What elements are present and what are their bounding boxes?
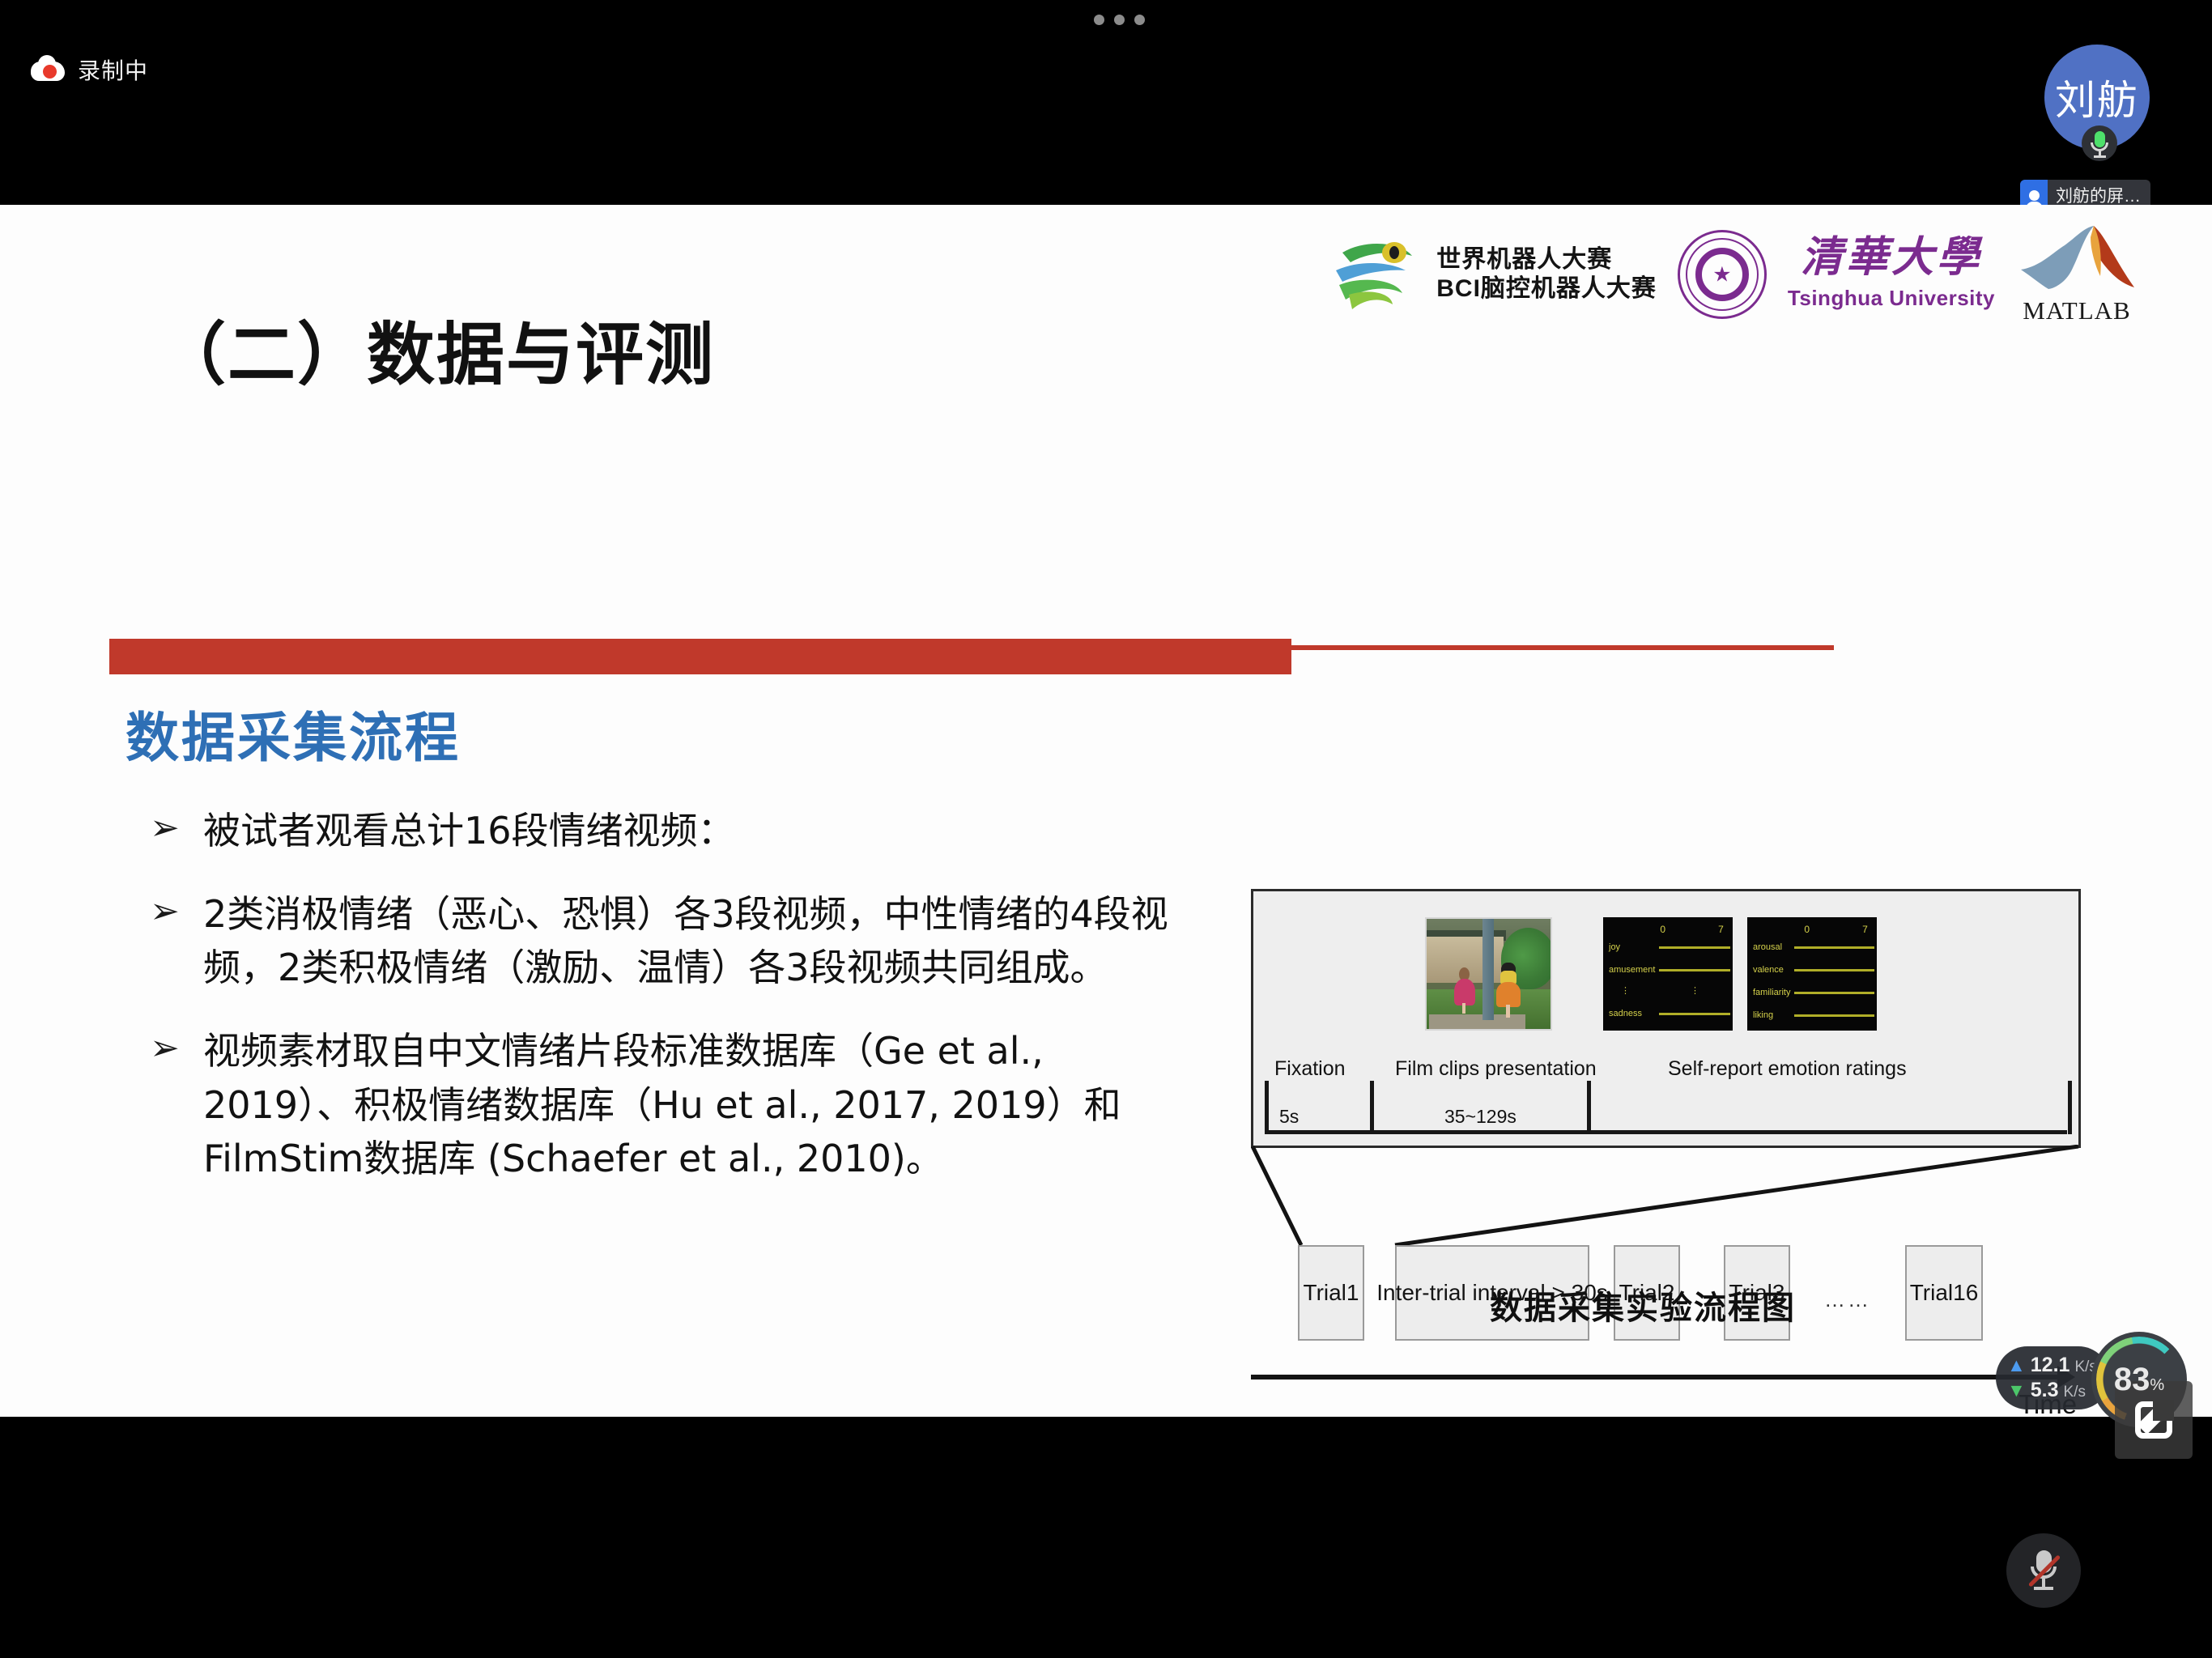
time-axis [1251, 1375, 2061, 1380]
list-item: ➢ 被试者观看总计16段情绪视频： [150, 804, 1178, 858]
tsinghua-en-label: Tsinghua University [1788, 286, 1995, 311]
phase-duration: 5s [1279, 1106, 1299, 1128]
list-item: ➢ 视频素材取自中文情绪片段标准数据库（Ge et al., 2019）、积极情… [150, 1024, 1178, 1186]
rating-label: familiarity [1753, 988, 1790, 997]
shared-slide: 世界机器人大赛 BCI脑控机器人大赛 ★ 清華大學 Tsinghua Unive… [0, 205, 2212, 1417]
wrc-line-2: BCI脑控机器人大赛 [1436, 274, 1657, 303]
bullet-arrow-icon: ➢ [150, 1024, 203, 1186]
download-speed-row: ▼ 5.3 K/s [2007, 1379, 2097, 1402]
bullet-arrow-icon: ➢ [150, 887, 203, 995]
logo-row: 世界机器人大赛 BCI脑控机器人大赛 ★ 清華大學 Tsinghua Unive… [1328, 223, 2138, 325]
rating-label: joy [1609, 942, 1620, 952]
matlab-logo: MATLAB [2016, 223, 2138, 325]
phase-label: Film clips presentation [1395, 1057, 1597, 1081]
scale-max: 7 [1718, 924, 1724, 935]
rating-label: valence [1753, 965, 1784, 975]
pencil-icon [2135, 1401, 2172, 1439]
avatar[interactable]: 刘舫 [2044, 45, 2150, 150]
more-options-icon[interactable] [1094, 15, 1145, 25]
matlab-label: MATLAB [2016, 296, 2138, 325]
mic-muted-icon [2027, 1550, 2060, 1591]
scale-min: 0 [1804, 924, 1810, 935]
recording-indicator[interactable]: 录制中 [31, 53, 148, 86]
download-speed-unit: K/s [2064, 1384, 2086, 1401]
phase-label: Fixation [1274, 1057, 1346, 1081]
ellipsis-right: ⋮ [1691, 985, 1699, 996]
bullet-text: 被试者观看总计16段情绪视频： [203, 804, 735, 858]
wrc-logo: 世界机器人大赛 BCI脑控机器人大赛 [1328, 235, 1657, 314]
cloud-record-icon [31, 57, 65, 83]
phase-duration: 35~129s [1444, 1106, 1516, 1128]
phase-label: Self-report emotion ratings [1668, 1057, 1907, 1081]
upload-speed-row: ▲ 12.1 K/s [2007, 1354, 2097, 1377]
bullet-text: 2类消极情绪（恶心、恐惧）各3段视频，中性情绪的4段视频，2类积极情绪（激励、温… [203, 887, 1178, 995]
wrc-mark-icon [1328, 235, 1425, 314]
divider-thick [109, 639, 1291, 674]
phase-timeline: Fixation 5s Film clips presentation 35~1… [1253, 1050, 2078, 1141]
bullet-list: ➢ 被试者观看总计16段情绪视频： ➢ 2类消极情绪（恶心、恐惧）各3段视频，中… [150, 804, 1178, 1215]
gauge-value: 83% [2114, 1362, 2164, 1398]
bullet-text: 视频素材取自中文情绪片段标准数据库（Ge et al., 2019）、积极情绪数… [203, 1024, 1178, 1186]
upload-speed-value: 12.1 [2031, 1354, 2070, 1377]
rating-label: liking [1753, 1010, 1773, 1020]
zoom-connector-lines [1251, 1145, 2109, 1250]
bullet-arrow-icon: ➢ [150, 804, 203, 858]
mute-toggle-button[interactable] [2006, 1533, 2081, 1608]
download-arrow-icon: ▼ [2007, 1381, 2026, 1400]
rating-label: arousal [1753, 942, 1782, 952]
list-item: Trial16 [1905, 1245, 1983, 1341]
upload-arrow-icon: ▲ [2007, 1356, 2026, 1375]
section-subtitle: 数据采集流程 [125, 695, 461, 772]
download-speed-value: 5.3 [2031, 1379, 2059, 1402]
mic-active-icon [2082, 125, 2117, 161]
dot-2 [1114, 15, 1125, 25]
trial-structure-panel: 07 joy amusement ⋮ ⋮ sadness 07 arousal … [1251, 889, 2081, 1148]
scale-max: 7 [1862, 924, 1868, 935]
rating-label: amusement [1609, 965, 1655, 975]
tsinghua-cn-label: 清華大學 [1788, 237, 1995, 279]
screen-root: 录制中 刘舫 刘舫的屏… [0, 0, 2212, 1658]
dot-1 [1094, 15, 1104, 25]
scale-min: 0 [1660, 924, 1665, 935]
tsinghua-seal-icon: ★ [1678, 230, 1767, 319]
rating-panel-discrete: 07 joy amusement ⋮ ⋮ sadness [1603, 917, 1733, 1031]
film-clip-thumbnail [1425, 917, 1552, 1031]
list-item: Trial1 [1298, 1245, 1364, 1341]
wrc-text: 世界机器人大赛 BCI脑控机器人大赛 [1436, 245, 1657, 303]
recording-label: 录制中 [78, 53, 148, 86]
figure-caption: 数据采集实验流程图 [1490, 1282, 1796, 1329]
list-item: ➢ 2类消极情绪（恶心、恐惧）各3段视频，中性情绪的4段视频，2类积极情绪（激励… [150, 887, 1178, 995]
rating-label: sadness [1609, 1009, 1642, 1018]
page-title: （二）数据与评测 [158, 300, 715, 398]
rating-panel-dimensional: 07 arousal valence familiarity liking [1747, 917, 1877, 1031]
experiment-flow-figure: 07 joy amusement ⋮ ⋮ sadness 07 arousal … [1251, 889, 2109, 1407]
ellipsis-label: …… [1824, 1287, 1871, 1312]
tsinghua-logo: 清華大學 Tsinghua University [1788, 237, 1995, 311]
participant-name-label: 刘舫的屏… [2048, 183, 2150, 207]
dot-3 [1134, 15, 1145, 25]
matlab-wave-icon [2016, 282, 2138, 295]
ellipsis-left: ⋮ [1621, 985, 1630, 996]
wrc-line-1: 世界机器人大赛 [1436, 245, 1657, 274]
